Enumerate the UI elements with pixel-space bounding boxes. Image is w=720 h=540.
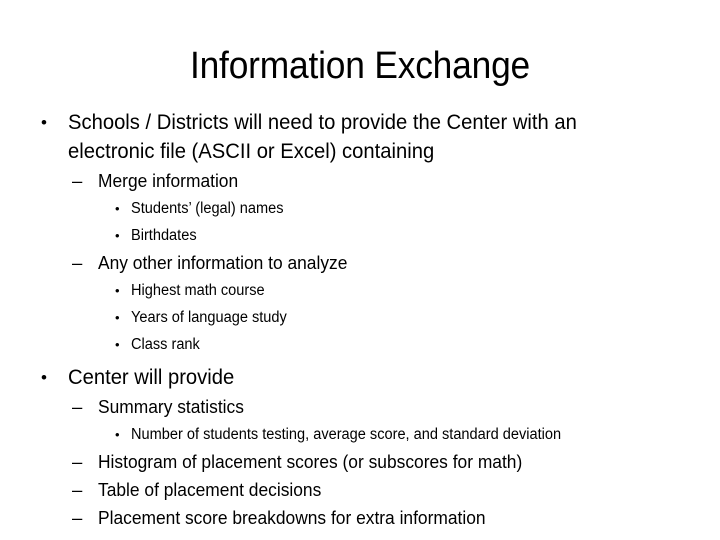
bullet-item-label: Table of placement decisions: [98, 476, 654, 504]
bullet-item-label: Number of students testing, average scor…: [131, 421, 660, 448]
dash-bullet-icon: –: [72, 393, 82, 421]
bullet-item-label: Schools / Districts will need to provide…: [68, 108, 647, 166]
bullet-item-label: Summary statistics: [98, 393, 654, 421]
round-bullet-icon: •: [115, 421, 120, 448]
bullet-item-level-2: –Merge information: [0, 167, 720, 195]
round-bullet-icon: •: [115, 304, 120, 331]
bullet-item-level-3: •Students’ (legal) names: [0, 195, 720, 222]
bullet-list: •Schools / Districts will need to provid…: [0, 108, 720, 532]
bullet-item-label: Class rank: [131, 331, 660, 358]
bullet-item-level-2: –Table of placement decisions: [0, 476, 720, 504]
bullet-item-level-2: –Any other information to analyze: [0, 249, 720, 277]
dash-bullet-icon: –: [72, 167, 82, 195]
bullet-item-label: Placement score breakdowns for extra inf…: [98, 504, 654, 532]
bullet-item-level-3: •Number of students testing, average sco…: [0, 421, 720, 448]
bullet-item-label: Merge information: [98, 167, 654, 195]
bullet-item-label: Any other information to analyze: [98, 249, 654, 277]
bullet-item-level-3: •Years of language study: [0, 304, 720, 331]
round-bullet-icon: •: [115, 277, 120, 304]
dash-bullet-icon: –: [72, 249, 82, 277]
round-bullet-icon: •: [41, 363, 47, 392]
bullet-item-level-3: •Birthdates: [0, 222, 720, 249]
bullet-item-label: Histogram of placement scores (or subsco…: [98, 448, 654, 476]
dash-bullet-icon: –: [72, 504, 82, 532]
page-title: Information Exchange: [25, 44, 695, 88]
bullet-item-level-2: –Histogram of placement scores (or subsc…: [0, 448, 720, 476]
presentation-slide: Information Exchange •Schools / District…: [0, 0, 720, 540]
bullet-item-label: Center will provide: [68, 363, 647, 392]
bullet-item-level-1: •Center will provide: [0, 363, 720, 392]
bullet-item-label: Students’ (legal) names: [131, 195, 660, 222]
bullet-item-level-2: –Placement score breakdowns for extra in…: [0, 504, 720, 532]
dash-bullet-icon: –: [72, 476, 82, 504]
round-bullet-icon: •: [115, 195, 120, 222]
bullet-item-level-2: –Summary statistics: [0, 393, 720, 421]
round-bullet-icon: •: [115, 331, 120, 358]
bullet-item-label: Birthdates: [131, 222, 660, 249]
dash-bullet-icon: –: [72, 448, 82, 476]
bullet-item-label: Highest math course: [131, 277, 660, 304]
bullet-item-level-3: •Highest math course: [0, 277, 720, 304]
bullet-item-level-1: •Schools / Districts will need to provid…: [0, 108, 720, 166]
round-bullet-icon: •: [41, 108, 47, 137]
bullet-item-label: Years of language study: [131, 304, 660, 331]
round-bullet-icon: •: [115, 222, 120, 249]
bullet-item-level-3: •Class rank: [0, 331, 720, 358]
